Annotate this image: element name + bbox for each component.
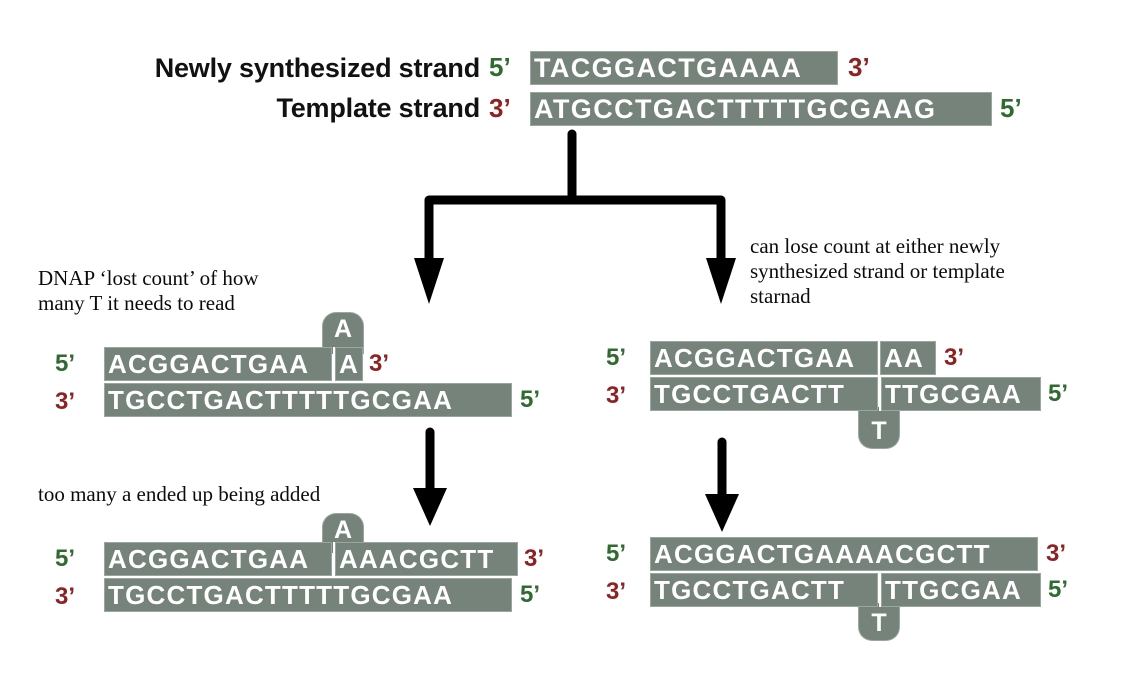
right-middle-bulge-base-t: T — [858, 407, 900, 449]
right-middle-bottom-strand-part-a: TGCCTGACTT — [650, 377, 878, 411]
note-right-top: can lose count at either newly synthesiz… — [750, 234, 1080, 308]
left-middle-three-prime-top: 3’ — [369, 352, 389, 376]
left-bottom-top-strand-nick — [333, 542, 335, 576]
right-bottom-three-prime-bottom: 3’ — [606, 580, 626, 604]
left-down-arrow — [405, 430, 465, 530]
note-left-top: DNAP ‘lost count’ of how many T it needs… — [38, 266, 348, 316]
left-bottom-bottom-strand: TGCCTGACTTTTTGCGAA — [104, 578, 512, 612]
right-middle-five-prime-top: 5’ — [606, 346, 626, 370]
left-bottom-five-prime-top: 5’ — [55, 547, 75, 571]
left-bottom-five-prime-bottom: 5’ — [520, 583, 540, 607]
top-newly-synthesized-sequence: TACGGACTGAAAA — [530, 51, 838, 85]
left-bottom-top-strand-part-a: ACGGACTGAA — [104, 542, 332, 576]
top-newly-five-prime: 5’ — [489, 54, 511, 80]
right-bottom-three-prime-top: 3’ — [1046, 542, 1066, 566]
right-bottom-five-prime-bottom: 5’ — [1048, 578, 1068, 602]
left-middle-three-prime-bottom: 3’ — [55, 390, 75, 414]
right-middle-three-prime-top: 3’ — [944, 346, 964, 370]
right-bottom-bottom-strand-part-b: TTGCGAA — [881, 573, 1041, 607]
right-bottom-bottom-strand-part-a: TGCCTGACTT — [650, 573, 878, 607]
left-bottom-three-prime-bottom: 3’ — [55, 585, 75, 609]
note-left-bottom: too many a ended up being added — [38, 482, 438, 507]
top-newly-three-prime: 3’ — [848, 54, 870, 80]
right-middle-top-strand-part-b: AA — [880, 341, 936, 375]
template-strand-label: Template strand — [55, 93, 480, 124]
right-down-arrow — [697, 440, 757, 536]
left-middle-top-strand-part-b: A — [335, 347, 363, 381]
left-middle-bottom-strand: TGCCTGACTTTTTGCGAA — [104, 383, 512, 417]
right-middle-bottom-strand-part-b: TTGCGAA — [881, 377, 1041, 411]
left-middle-top-strand-nick — [333, 347, 335, 381]
right-middle-three-prime-bottom: 3’ — [606, 384, 626, 408]
right-bottom-top-strand: ACGGACTGAAAACGCTT — [650, 537, 1038, 571]
left-bottom-top-strand-part-b: AAACGCTT — [335, 542, 518, 576]
top-template-three-prime: 3’ — [489, 95, 511, 121]
newly-synthesized-strand-label: Newly synthesized strand — [55, 53, 480, 84]
right-middle-bottom-strand-nick — [879, 377, 881, 411]
right-middle-top-strand-part-a: ACGGACTGAA — [650, 341, 878, 375]
right-middle-five-prime-bottom: 5’ — [1048, 382, 1068, 406]
right-bottom-bottom-strand-nick — [879, 573, 881, 607]
right-bottom-five-prime-top: 5’ — [606, 542, 626, 566]
left-middle-top-strand-part-a: ACGGACTGAA — [104, 347, 332, 381]
top-template-five-prime: 5’ — [1000, 95, 1022, 121]
left-middle-five-prime-bottom: 5’ — [520, 388, 540, 412]
left-bottom-three-prime-top: 3’ — [524, 547, 544, 571]
left-middle-five-prime-top: 5’ — [55, 352, 75, 376]
right-bottom-bulge-base-t: T — [858, 603, 900, 641]
diagram-canvas: Newly synthesized strand Template strand… — [0, 0, 1126, 674]
split-branch-arrow — [415, 132, 735, 312]
top-template-sequence: ATGCCTGACTTTTTGCGAAG — [530, 92, 992, 126]
